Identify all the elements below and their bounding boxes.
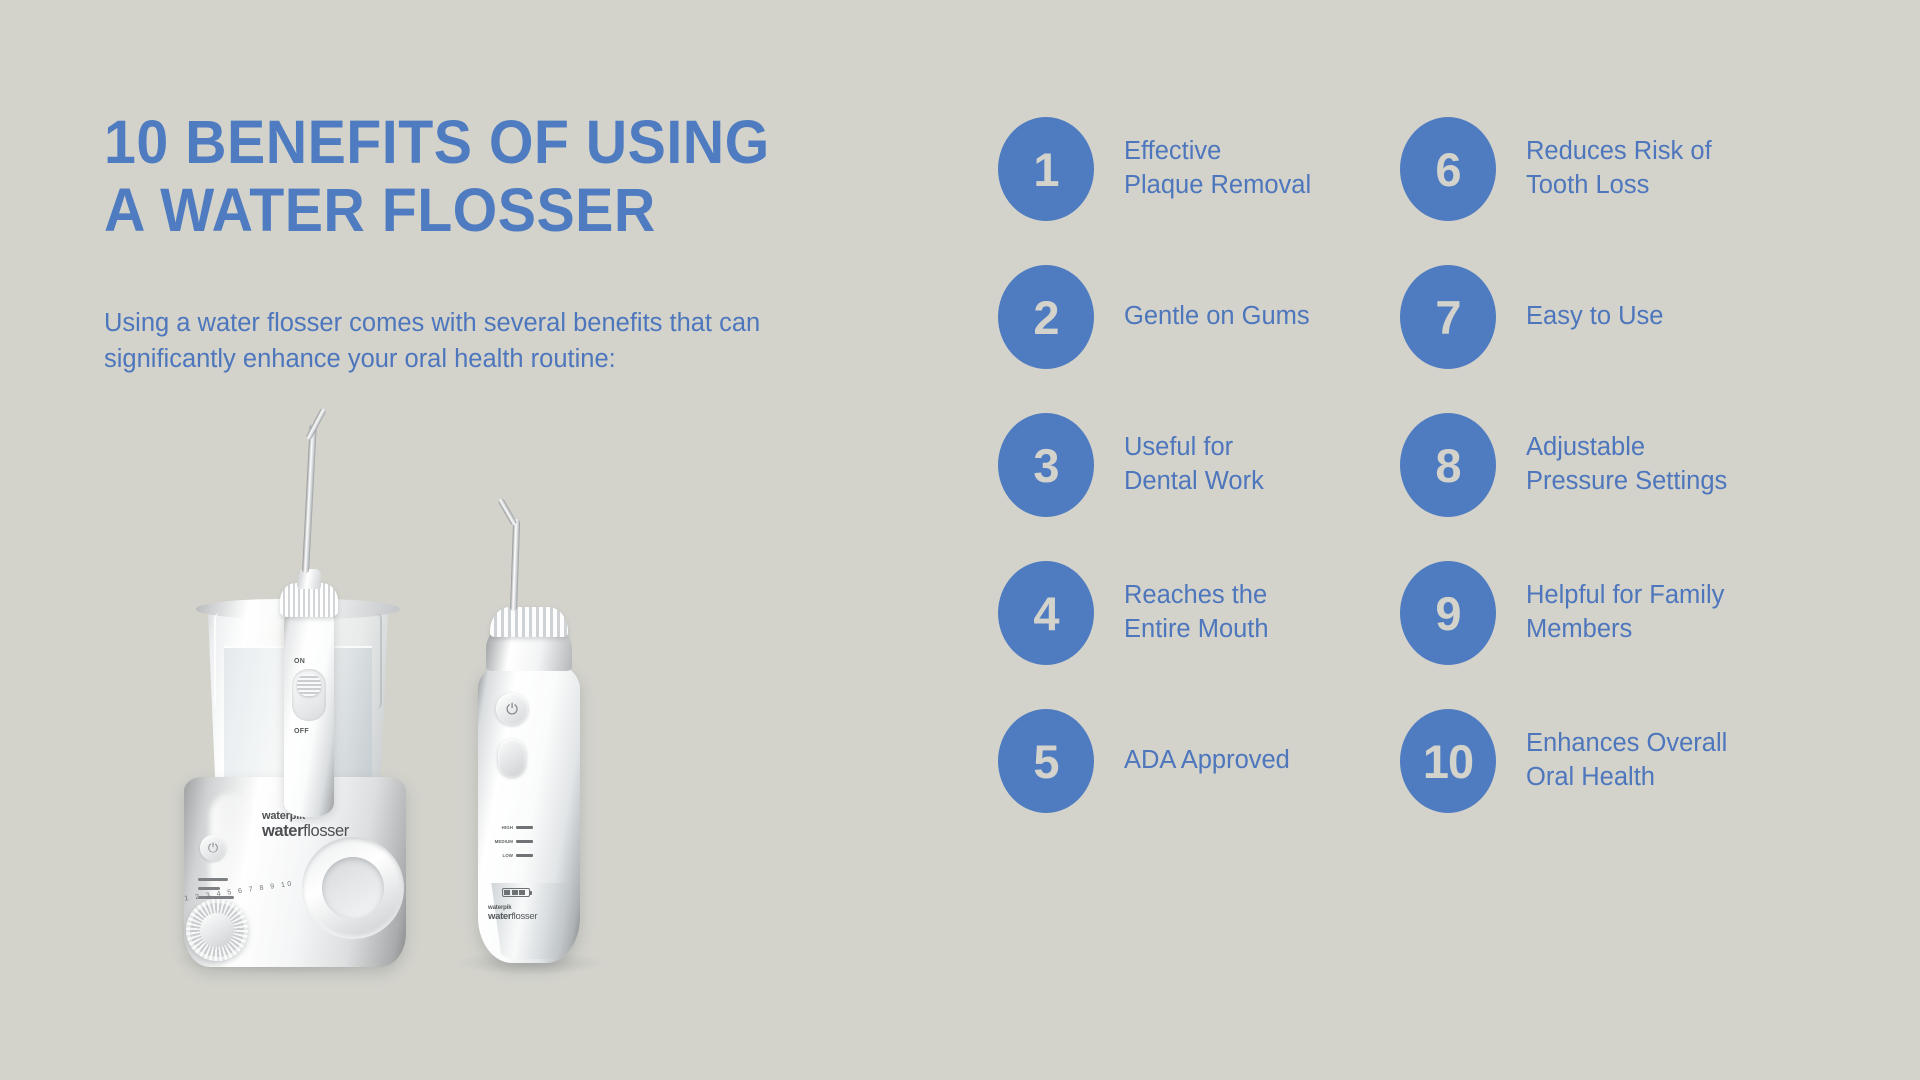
switch-on-label: ON	[294, 658, 305, 665]
pressure-level-low: LOW	[494, 853, 538, 858]
benefit-number-badge-2: 2	[998, 265, 1094, 369]
cordless-collar	[490, 607, 568, 637]
benefit-item-8[interactable]: 8AdjustablePressure Settings	[1400, 391, 1840, 539]
benefit-number-badge-6: 6	[1400, 117, 1496, 221]
on-off-switch	[292, 669, 326, 721]
level-label-medium: MEDIUM	[494, 839, 513, 844]
benefit-label-7: Easy to Use	[1526, 300, 1663, 334]
benefits-column-left: 1EffectivePlaque Removal2Gentle on Gums3…	[998, 95, 1438, 835]
cordless-jet-tip	[510, 519, 520, 611]
benefit-label-4: Reaches theEntire Mouth	[1124, 579, 1269, 647]
brand-flosser: flosser	[303, 822, 349, 840]
benefit-number-badge-9: 9	[1400, 561, 1496, 665]
benefit-item-5[interactable]: 5ADA Approved	[998, 687, 1438, 835]
benefit-label-1: EffectivePlaque Removal	[1124, 135, 1311, 203]
pressure-control-dial	[186, 899, 248, 961]
benefit-number-badge-1: 1	[998, 117, 1094, 221]
benefit-label-8: AdjustablePressure Settings	[1526, 431, 1727, 499]
page-title: 10 BENEFITS OF USING A WATER FLOSSER	[104, 108, 847, 245]
benefit-item-9[interactable]: 9Helpful for FamilyMembers	[1400, 539, 1840, 687]
benefit-label-2: Gentle on Gums	[1124, 300, 1310, 334]
page-subtitle: Using a water flosser comes with several…	[104, 305, 844, 377]
benefit-number-badge-5: 5	[998, 709, 1094, 813]
benefit-number-badge-3: 3	[998, 413, 1094, 517]
benefit-number-badge-7: 7	[1400, 265, 1496, 369]
benefit-label-6: Reduces Risk ofTooth Loss	[1526, 135, 1712, 203]
benefit-label-10: Enhances OverallOral Health	[1526, 727, 1727, 795]
benefits-column-right: 6Reduces Risk ofTooth Loss7Easy to Use8A…	[1400, 95, 1840, 835]
benefit-item-3[interactable]: 3Useful forDental Work	[998, 391, 1438, 539]
pressure-level-high: HIGH	[494, 825, 538, 830]
hose-holder-ring	[302, 837, 404, 939]
benefit-item-7[interactable]: 7Easy to Use	[1400, 243, 1840, 391]
title-line-1: 10 BENEFITS OF USING	[104, 108, 770, 176]
benefit-number-badge-8: 8	[1400, 413, 1496, 517]
cordless-jet-tip-bend	[497, 498, 517, 527]
cordless-brand-flosser: flosser	[511, 911, 537, 922]
cordless-brand-waterflosser: waterflosser	[488, 912, 537, 922]
level-label-low: LOW	[494, 853, 513, 858]
battery-icon	[502, 888, 530, 897]
benefit-label-3: Useful forDental Work	[1124, 431, 1264, 499]
benefits-list: 1EffectivePlaque Removal2Gentle on Gums3…	[960, 0, 1920, 1080]
benefit-label-9: Helpful for FamilyMembers	[1526, 579, 1724, 647]
brand-waterflosser: waterflosser	[262, 823, 349, 840]
cordless-brand-mark: waterpik waterflosser	[488, 905, 537, 922]
jet-tip	[302, 423, 317, 573]
cordless-mode-button	[498, 739, 526, 777]
pressure-level-medium: MEDIUM	[494, 839, 538, 844]
level-label-high: HIGH	[494, 825, 513, 830]
flosser-handle: ON OFF	[278, 557, 340, 817]
product-image: waterpik waterflosser ⏻ 1 2 3 4 5 6 7 8 …	[150, 395, 730, 975]
cordless-brand-water: water	[488, 911, 511, 922]
switch-off-label: OFF	[294, 728, 309, 735]
countertop-water-flosser: waterpik waterflosser ⏻ 1 2 3 4 5 6 7 8 …	[170, 547, 420, 967]
benefit-label-5: ADA Approved	[1124, 744, 1290, 778]
benefit-item-10[interactable]: 10Enhances OverallOral Health	[1400, 687, 1840, 835]
power-button-icon: ⏻	[200, 835, 226, 861]
title-line-2: A WATER FLOSSER	[104, 176, 656, 244]
benefit-item-6[interactable]: 6Reduces Risk ofTooth Loss	[1400, 95, 1840, 243]
benefit-item-4[interactable]: 4Reaches theEntire Mouth	[998, 539, 1438, 687]
benefit-item-1[interactable]: 1EffectivePlaque Removal	[998, 95, 1438, 243]
brand-water: water	[262, 822, 303, 840]
cordless-power-button-icon: ⏻	[496, 693, 528, 725]
benefit-number-badge-10: 10	[1400, 709, 1496, 813]
left-column: 10 BENEFITS OF USING A WATER FLOSSER Usi…	[0, 0, 960, 1080]
benefit-item-2[interactable]: 2Gentle on Gums	[998, 243, 1438, 391]
pressure-level-indicators: HIGH MEDIUM LOW	[494, 825, 538, 867]
benefit-number-badge-4: 4	[998, 561, 1094, 665]
handle-neck	[297, 569, 321, 589]
cordless-water-flosser: ⏻ HIGH MEDIUM LOW waterpik waterflo	[450, 493, 610, 963]
